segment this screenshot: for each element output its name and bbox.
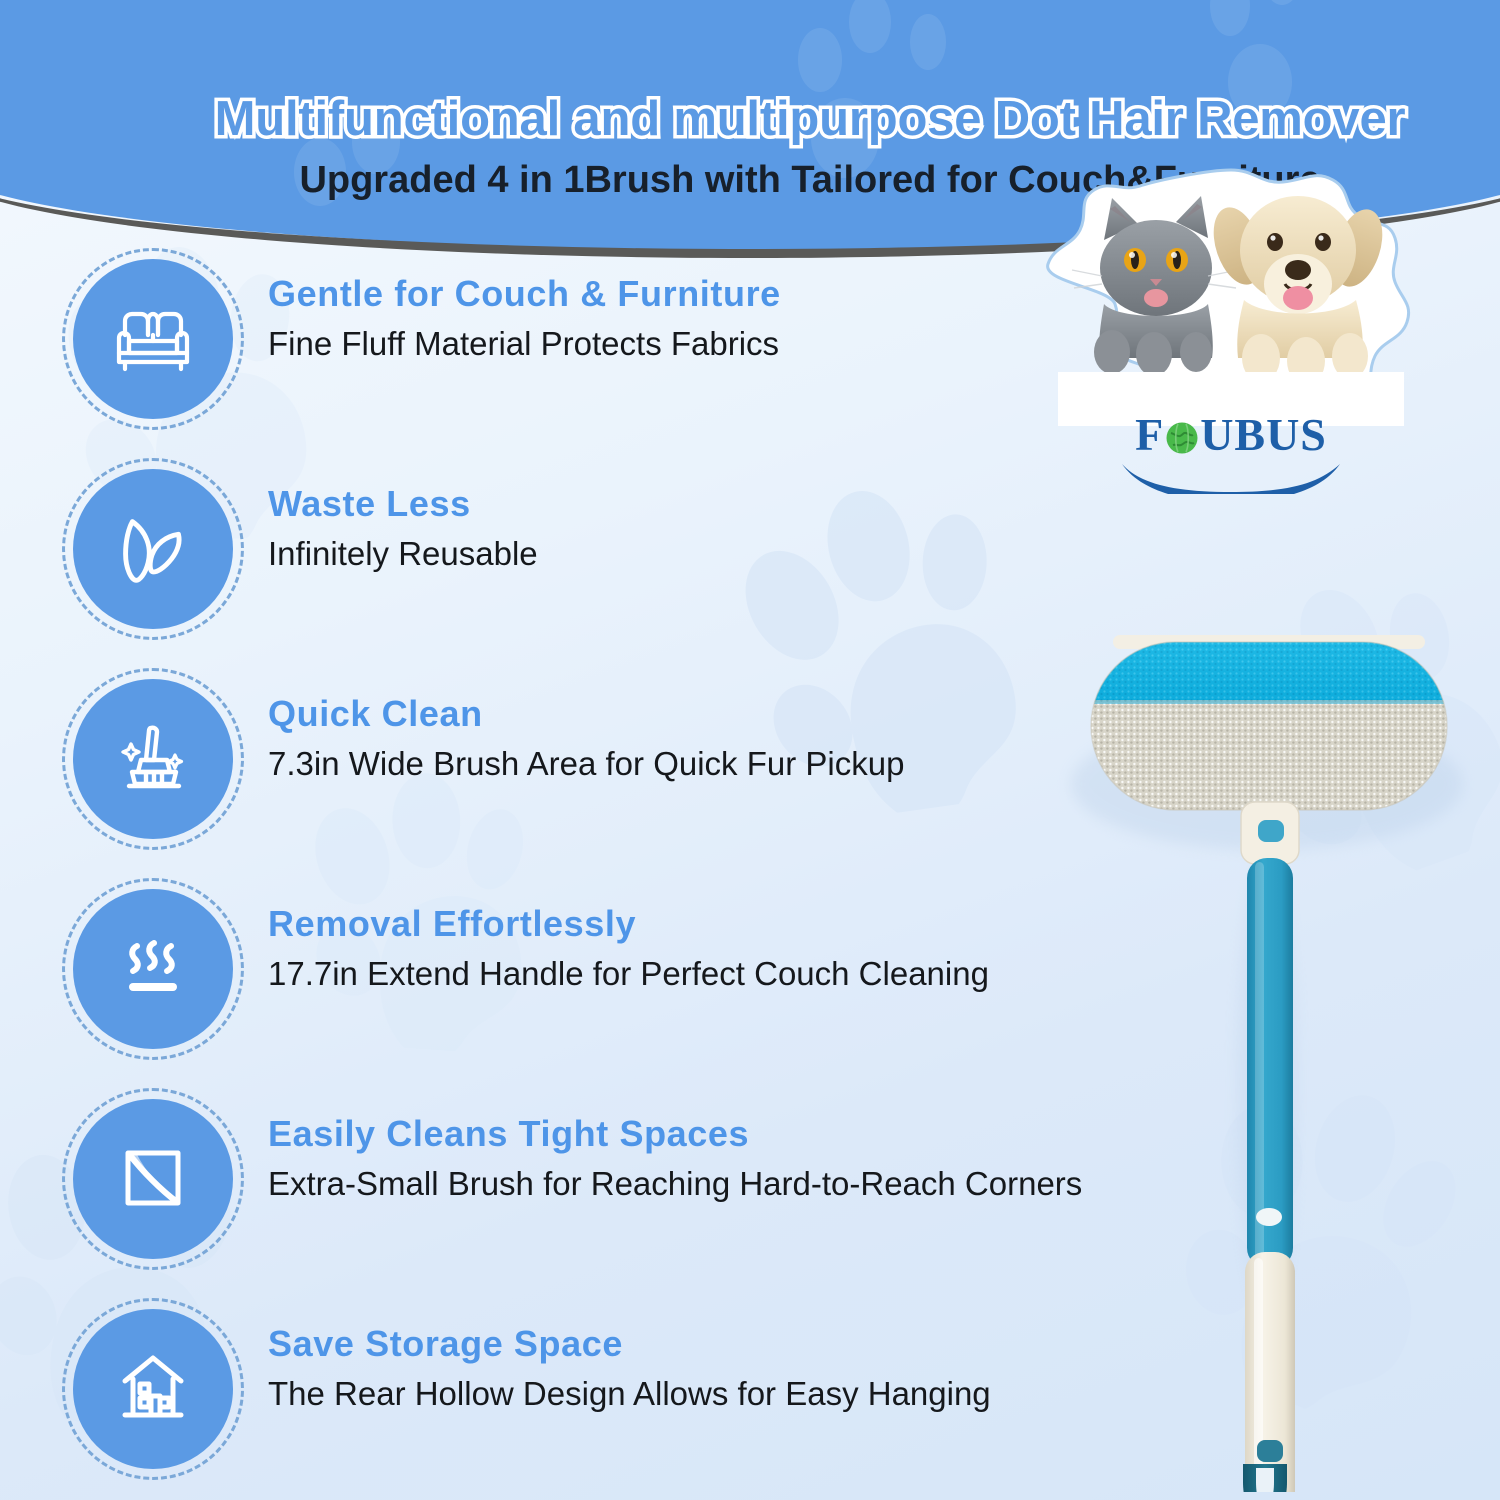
feature-desc: The Rear Hollow Design Allows for Easy H… bbox=[268, 1374, 991, 1414]
feature-item: Removal Effortlessly 17.7in Extend Handl… bbox=[62, 878, 1192, 1088]
page-title: Multifunctional and multipurpose Dot Hai… bbox=[60, 90, 1500, 147]
badge-circle bbox=[73, 469, 233, 629]
feature-desc: Infinitely Reusable bbox=[268, 534, 538, 574]
feature-item: Quick Clean 7.3in Wide Brush Area for Qu… bbox=[62, 668, 1192, 878]
feature-text: Removal Effortlessly 17.7in Extend Handl… bbox=[244, 878, 989, 994]
couch-icon bbox=[105, 291, 201, 387]
feature-desc: 17.7in Extend Handle for Perfect Couch C… bbox=[268, 954, 989, 994]
tight-corner-icon bbox=[105, 1131, 201, 1227]
globe-icon bbox=[1165, 421, 1199, 455]
brush-neck bbox=[1241, 802, 1299, 864]
feature-text: Waste Less Infinitely Reusable bbox=[244, 458, 538, 574]
feature-item: Easily Cleans Tight Spaces Extra-Small B… bbox=[62, 1088, 1192, 1298]
feature-item: Save Storage Space The Rear Hollow Desig… bbox=[62, 1298, 1192, 1500]
feature-text: Gentle for Couch & Furniture Fine Fluff … bbox=[244, 248, 781, 364]
feature-title: Save Storage Space bbox=[268, 1322, 991, 1365]
feature-title: Removal Effortlessly bbox=[268, 902, 989, 945]
cat-and-dog-image bbox=[1058, 176, 1404, 426]
badge-circle bbox=[73, 1309, 233, 1469]
brand-swoosh bbox=[1118, 460, 1344, 494]
cat-illustration bbox=[1072, 196, 1238, 376]
feature-icon-badge bbox=[62, 458, 244, 640]
house-icon bbox=[105, 1341, 201, 1437]
steam-waves-icon bbox=[105, 921, 201, 1017]
feature-item: Gentle for Couch & Furniture Fine Fluff … bbox=[62, 248, 1192, 458]
badge-circle bbox=[73, 679, 233, 839]
broom-icon bbox=[105, 711, 201, 807]
feature-desc: 7.3in Wide Brush Area for Quick Fur Pick… bbox=[268, 744, 904, 784]
feature-icon-badge bbox=[62, 1088, 244, 1270]
feature-title: Easily Cleans Tight Spaces bbox=[268, 1112, 1082, 1155]
feature-desc: Fine Fluff Material Protects Fabrics bbox=[268, 324, 781, 364]
feature-icon-badge bbox=[62, 668, 244, 850]
dog-illustration bbox=[1205, 196, 1392, 385]
feature-list: Gentle for Couch & Furniture Fine Fluff … bbox=[62, 248, 1192, 1500]
feature-title: Waste Less bbox=[268, 482, 538, 525]
badge-circle bbox=[73, 889, 233, 1049]
feature-text: Quick Clean 7.3in Wide Brush Area for Qu… bbox=[244, 668, 904, 784]
handle-upper bbox=[1247, 858, 1293, 1268]
feature-title: Gentle for Couch & Furniture bbox=[268, 272, 781, 315]
feature-icon-badge bbox=[62, 878, 244, 1060]
brand-logo: FUBUS bbox=[1040, 412, 1422, 494]
brand-badge: FUBUS bbox=[1040, 166, 1422, 522]
handle-lower bbox=[1245, 1252, 1295, 1492]
leaves-icon bbox=[106, 502, 200, 596]
feature-desc: Extra-Small Brush for Reaching Hard-to-R… bbox=[268, 1164, 1082, 1204]
product-infographic: Multifunctional and multipurpose Dot Hai… bbox=[0, 0, 1500, 1500]
badge-circle bbox=[73, 1099, 233, 1259]
feature-icon-badge bbox=[62, 248, 244, 430]
feature-text: Easily Cleans Tight Spaces Extra-Small B… bbox=[244, 1088, 1082, 1204]
feature-item: Waste Less Infinitely Reusable bbox=[62, 458, 1192, 668]
feature-title: Quick Clean bbox=[268, 692, 904, 735]
badge-circle bbox=[73, 259, 233, 419]
feature-icon-badge bbox=[62, 1298, 244, 1480]
brand-wordmark: FUBUS bbox=[1135, 412, 1327, 458]
feature-text: Save Storage Space The Rear Hollow Desig… bbox=[244, 1298, 991, 1414]
hanging-loop bbox=[1243, 1464, 1287, 1492]
